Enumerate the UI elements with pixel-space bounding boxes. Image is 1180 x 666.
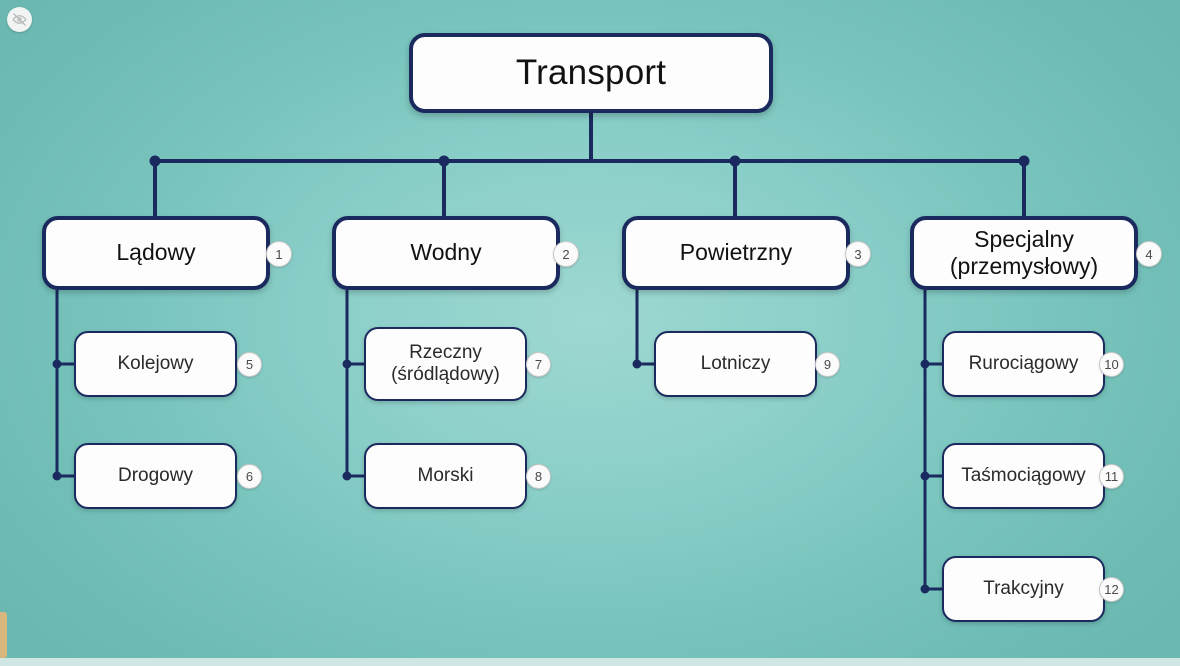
node-rzeczny-line2: (śródlądowy) xyxy=(391,364,500,385)
badge-1-text: 1 xyxy=(275,247,282,262)
badge-10-text: 10 xyxy=(1104,357,1118,372)
badge-2-text: 2 xyxy=(562,247,569,262)
node-kolejowy[interactable]: Kolejowy xyxy=(74,331,237,397)
badge-9[interactable]: 9 xyxy=(815,352,840,377)
badge-6-text: 6 xyxy=(246,469,253,484)
node-tasmociagowy-label: Taśmociągowy xyxy=(951,465,1096,487)
left-edge-sliver xyxy=(0,612,7,658)
node-transport-label: Transport xyxy=(506,52,676,93)
badge-4[interactable]: 4 xyxy=(1136,241,1162,267)
hidden-eye-icon[interactable] xyxy=(7,7,32,32)
node-trakcyjny[interactable]: Trakcyjny xyxy=(942,556,1105,622)
node-landowy-label: Lądowy xyxy=(106,239,205,266)
node-kolejowy-label: Kolejowy xyxy=(107,353,203,375)
badge-4-text: 4 xyxy=(1145,247,1152,262)
node-transport[interactable]: Transport xyxy=(409,33,773,113)
node-specjalny-line2: (przemysłowy) xyxy=(950,253,1098,279)
badge-3-text: 3 xyxy=(854,247,861,262)
node-morski-label: Morski xyxy=(408,465,484,487)
node-rurociagowy-label: Rurociągowy xyxy=(959,353,1089,375)
node-lotniczy-label: Lotniczy xyxy=(691,353,781,375)
diagram-canvas: Transport Lądowy 1 Wodny 2 Powietrzny 3 … xyxy=(0,0,1180,666)
node-powietrzny[interactable]: Powietrzny xyxy=(622,216,850,290)
node-rzeczny-label: Rzeczny (śródlądowy) xyxy=(381,342,510,387)
badge-5-text: 5 xyxy=(246,357,253,372)
node-powietrzny-label: Powietrzny xyxy=(670,239,802,266)
link-specjalny-children xyxy=(925,290,944,589)
node-lotniczy[interactable]: Lotniczy xyxy=(654,331,817,397)
node-rzeczny[interactable]: Rzeczny (śródlądowy) xyxy=(364,327,527,401)
badge-8[interactable]: 8 xyxy=(526,464,551,489)
node-specjalny-label: Specjalny (przemysłowy) xyxy=(940,226,1108,280)
badge-7[interactable]: 7 xyxy=(526,352,551,377)
badge-5[interactable]: 5 xyxy=(237,352,262,377)
node-wodny-label: Wodny xyxy=(400,239,491,266)
badge-6[interactable]: 6 xyxy=(237,464,262,489)
bottom-strip xyxy=(0,658,1180,666)
badge-3[interactable]: 3 xyxy=(845,241,871,267)
node-rurociagowy[interactable]: Rurociągowy xyxy=(942,331,1105,397)
node-landowy[interactable]: Lądowy xyxy=(42,216,270,290)
badge-8-text: 8 xyxy=(535,469,542,484)
badge-11-text: 11 xyxy=(1105,469,1119,484)
node-trakcyjny-label: Trakcyjny xyxy=(973,578,1074,600)
node-rzeczny-line1: Rzeczny xyxy=(409,342,482,363)
badge-11[interactable]: 11 xyxy=(1099,464,1124,489)
badge-9-text: 9 xyxy=(824,357,831,372)
badge-12-text: 12 xyxy=(1104,582,1118,597)
badge-7-text: 7 xyxy=(535,357,542,372)
badge-2[interactable]: 2 xyxy=(553,241,579,267)
badge-1[interactable]: 1 xyxy=(266,241,292,267)
node-drogowy[interactable]: Drogowy xyxy=(74,443,237,509)
badge-12[interactable]: 12 xyxy=(1099,577,1124,602)
node-specjalny-line1: Specjalny xyxy=(974,226,1074,252)
node-drogowy-label: Drogowy xyxy=(108,465,203,487)
node-tasmociagowy[interactable]: Taśmociągowy xyxy=(942,443,1105,509)
node-wodny[interactable]: Wodny xyxy=(332,216,560,290)
node-specjalny[interactable]: Specjalny (przemysłowy) xyxy=(910,216,1138,290)
badge-10[interactable]: 10 xyxy=(1099,352,1124,377)
node-morski[interactable]: Morski xyxy=(364,443,527,509)
